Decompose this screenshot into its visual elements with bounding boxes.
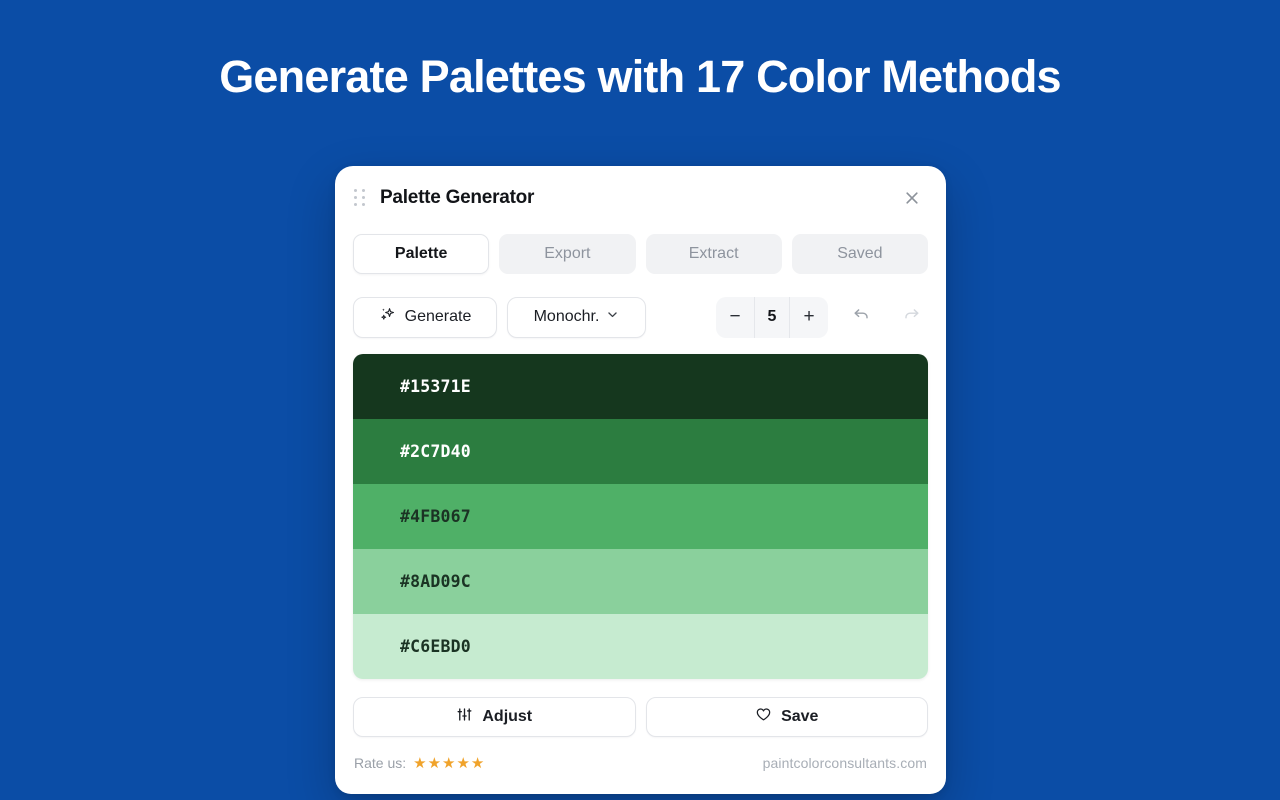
tab-extract[interactable]: Extract [646,234,782,274]
swatch-count-stepper: − 5 + [716,297,828,338]
palette-swatch[interactable]: #2C7D40 [353,419,928,484]
card-header: Palette Generator [353,166,928,230]
swatch-hex-label: #2C7D40 [400,442,471,461]
rate-us[interactable]: Rate us: ★★★★★ [354,755,485,771]
rate-us-label: Rate us: [354,755,406,771]
swatch-hex-label: #15371E [400,377,471,396]
swatch-hex-label: #4FB067 [400,507,471,526]
page-root: Generate Palettes with 17 Color Methods … [0,0,1280,800]
generate-button-label: Generate [405,308,472,326]
redo-button[interactable] [894,300,928,334]
palette-swatch[interactable]: #15371E [353,354,928,419]
palette-swatch[interactable]: #4FB067 [353,484,928,549]
drag-dots-icon[interactable] [354,187,368,209]
sparkle-icon [379,306,396,328]
undo-arrow-icon [852,305,871,329]
undo-button[interactable] [844,300,878,334]
adjust-button[interactable]: Adjust [353,697,636,737]
heart-icon [755,706,772,728]
tab-export[interactable]: Export [499,234,635,274]
adjust-button-label: Adjust [482,708,532,726]
page-headline: Generate Palettes with 17 Color Methods [0,48,1280,106]
palette-swatch-list: #15371E #2C7D40 #4FB067 #8AD09C #C6EBD0 [353,354,928,679]
chevron-down-icon [606,308,619,326]
save-button[interactable]: Save [646,697,929,737]
star-rating[interactable]: ★★★★★ [413,756,485,771]
palette-swatch[interactable]: #C6EBD0 [353,614,928,679]
tab-saved[interactable]: Saved [792,234,928,274]
save-button-label: Save [781,708,818,726]
color-method-select[interactable]: Monochr. [507,297,646,338]
color-method-value: Monochr. [534,308,600,326]
card-title: Palette Generator [380,187,534,209]
close-icon [904,190,920,206]
site-domain: paintcolorconsultants.com [763,755,927,771]
stepper-decrement-button[interactable]: − [716,297,754,338]
palette-generator-card: Palette Generator Palette Export Extract… [335,166,946,794]
controls-row: Generate Monochr. − 5 + [353,296,928,338]
card-footer: Rate us: ★★★★★ paintcolorconsultants.com [353,755,928,771]
stepper-value: 5 [754,297,790,338]
swatch-hex-label: #8AD09C [400,572,471,591]
swatch-hex-label: #C6EBD0 [400,637,471,656]
sliders-icon [456,706,473,728]
generate-button[interactable]: Generate [353,297,497,338]
action-row: Adjust Save [353,697,928,737]
tab-palette[interactable]: Palette [353,234,489,274]
close-button[interactable] [897,183,927,213]
redo-arrow-icon [902,305,921,329]
palette-swatch[interactable]: #8AD09C [353,549,928,614]
stepper-increment-button[interactable]: + [790,297,828,338]
tab-bar: Palette Export Extract Saved [353,234,928,274]
